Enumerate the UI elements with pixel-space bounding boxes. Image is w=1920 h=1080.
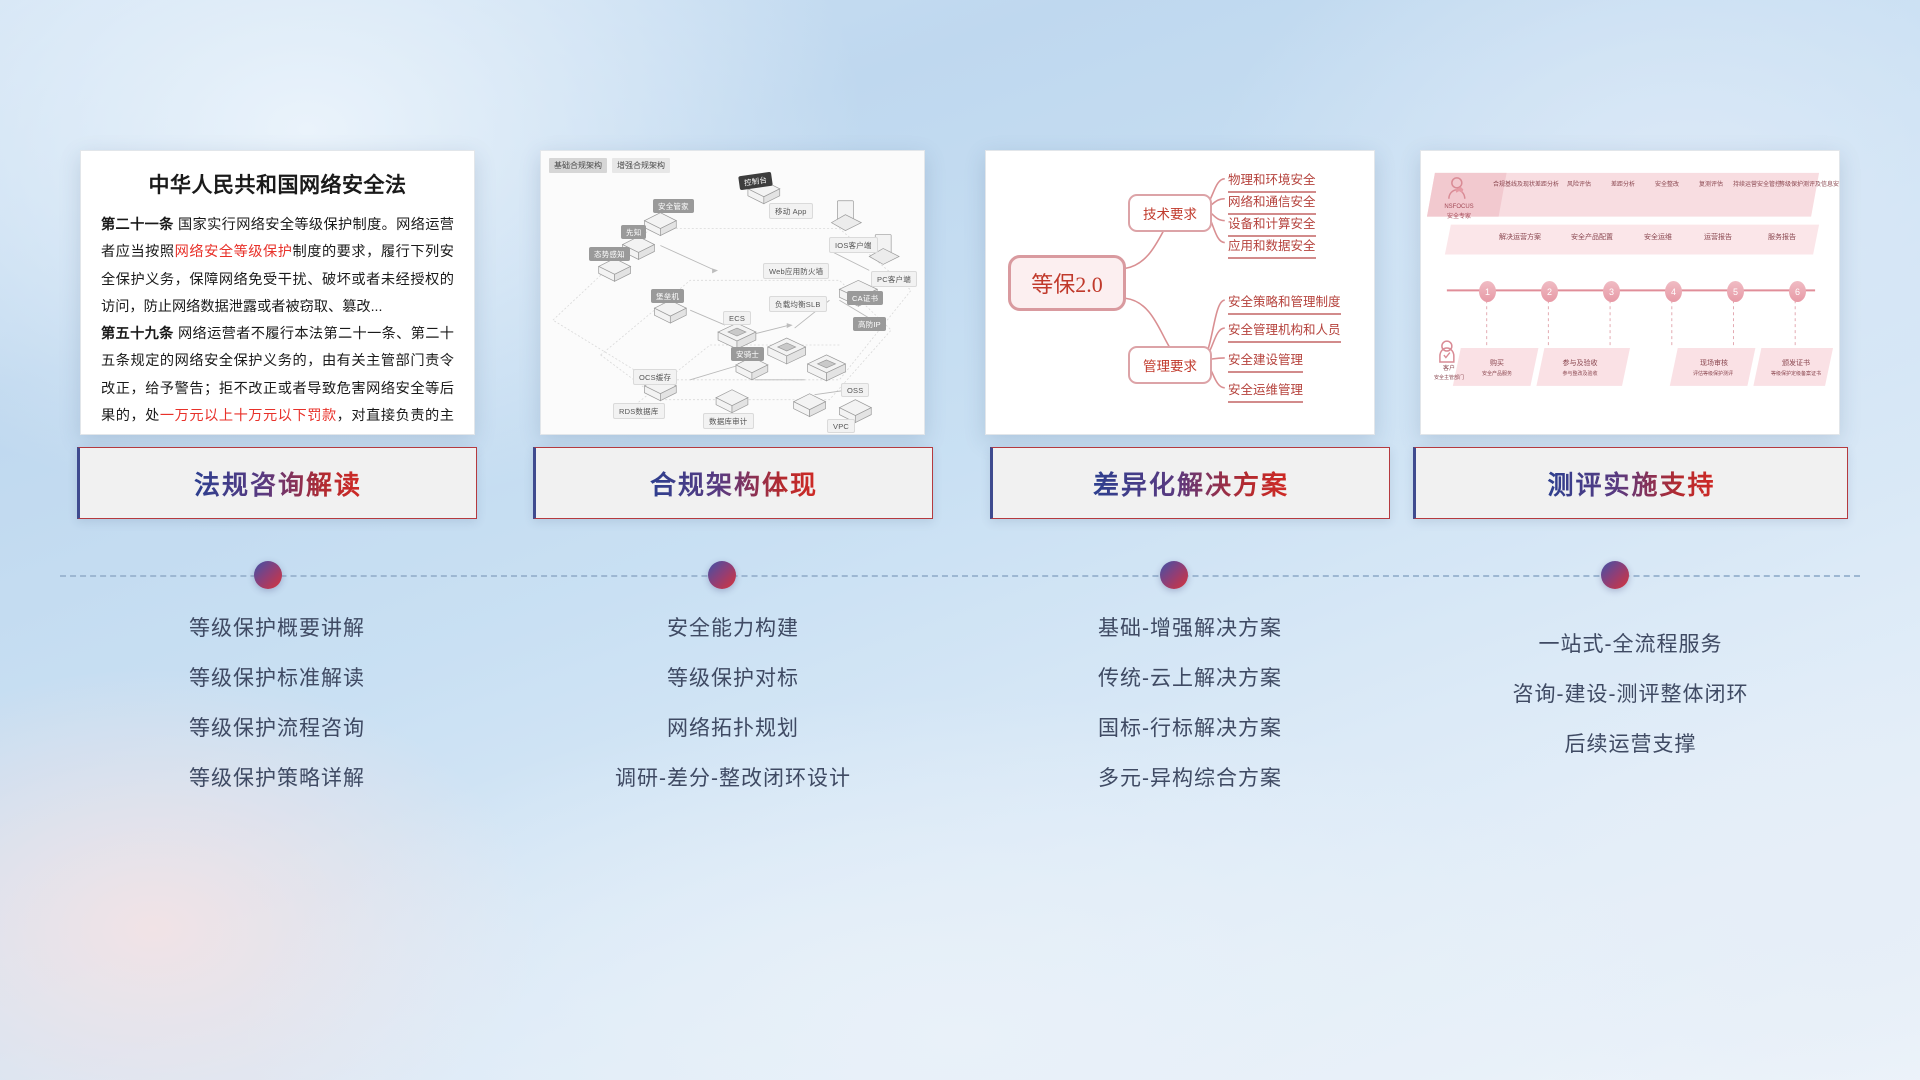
article-59-label: 第五十九条 xyxy=(101,326,174,342)
article-21-highlight: 网络安全等级保护 xyxy=(175,244,293,260)
heading-label-1: 合规架构体现 xyxy=(650,465,818,502)
law-title: 中华人民共和国网络安全法 xyxy=(101,169,454,199)
mind-leaf-network-comm: 网络和通信安全 xyxy=(1228,191,1316,215)
mind-branch-management: 管理要求 xyxy=(1128,346,1212,384)
law-body: 中华人民共和国网络安全法 第二十一条 国家实行网络安全等级保护制度。网络运营者应… xyxy=(81,151,474,435)
law-article-21: 第二十一条 国家实行网络安全等级保护制度。网络运营者应当按照网络安全等级保护制度… xyxy=(101,212,454,321)
mind-leaf-device-compute: 设备和计算安全 xyxy=(1228,213,1316,237)
timeline-dot-1 xyxy=(254,561,282,589)
list-item: 一站式-全流程服务 xyxy=(1413,620,1848,670)
nsfocus-mid-step-1: 解决运营方案 xyxy=(1489,233,1551,242)
nsfocus-brand: NSFOCUS xyxy=(1435,203,1483,211)
nsfocus-role-label: 客户 xyxy=(1429,365,1469,373)
heading-box-differentiated-solutions[interactable]: 差异化解决方案 xyxy=(990,447,1390,519)
card-law-text: 中华人民共和国网络安全法 第二十一条 国家实行网络安全等级保护制度。网络运营者应… xyxy=(80,150,475,435)
mind-leaf-policy-system: 安全策略和管理制度 xyxy=(1228,291,1341,315)
nsfocus-bottom-left-2-sub: 参与整改及验收 xyxy=(1545,371,1615,378)
list-item: 基础-增强解决方案 xyxy=(990,604,1390,654)
nsfocus-bottom-right-2-title: 颁发证书 xyxy=(1769,359,1823,368)
node-label-oss: OSS xyxy=(841,383,869,397)
law-article-59: 第五十九条 网络运营者不履行本法第二十一条、第二十五条规定的网络安全保护义务的，… xyxy=(101,321,454,435)
list-item: 国标-行标解决方案 xyxy=(990,704,1390,754)
timeline-dot-2 xyxy=(708,561,736,589)
nsfocus-bottom-right-1-sub: 评估等级保护测评 xyxy=(1673,371,1753,378)
node-label-ios-client: IOS客户端 xyxy=(829,237,878,253)
node-label-mobile-app: 移动 App xyxy=(769,203,813,219)
node-label-slb: 负载均衡SLB xyxy=(769,296,827,312)
card-mind-map: 等保2.0 技术要求 物理和环境安全 网络和通信安全 设备和计算安全 应用和数据… xyxy=(985,150,1375,435)
timeline-dashed-line xyxy=(60,575,1860,577)
list-item: 等级保护标准解读 xyxy=(77,654,477,704)
nsfocus-top-step-5: 复测评估 xyxy=(1691,181,1731,189)
node-label-xianzhi: 先知 xyxy=(621,225,646,239)
article-21-label: 第二十一条 xyxy=(101,217,174,233)
timeline-dot-4 xyxy=(1601,561,1629,589)
node-label-anqishi: 安骑士 xyxy=(731,347,764,361)
list-item: 等级保护流程咨询 xyxy=(77,704,477,754)
nsfocus-bottom-left-1-title: 购买 xyxy=(1473,359,1521,368)
mind-map-root: 等保2.0 xyxy=(1008,255,1126,311)
node-label-ecs: ECS xyxy=(723,311,751,325)
nsfocus-step-number-2: 2 xyxy=(1541,281,1558,302)
bullet-list-column-3: 基础-增强解决方案 传统-云上解决方案 国标-行标解决方案 多元-异构综合方案 xyxy=(990,604,1390,804)
nsfocus-bottom-right-1-title: 现场审核 xyxy=(1687,359,1741,368)
nsfocus-top-step-3: 差距分析 xyxy=(1603,181,1643,189)
list-item: 多元-异构综合方案 xyxy=(990,754,1390,804)
bullet-list-column-2: 安全能力构建 等级保护对标 网络拓扑规划 调研-差分-整改闭环设计 xyxy=(533,604,933,804)
heading-box-regulation-consulting[interactable]: 法规咨询解读 xyxy=(77,447,477,519)
nsfocus-mid-step-5: 服务报告 xyxy=(1757,233,1807,242)
nsfocus-flow: NSFOCUS 安全专家 合规基线及现状差距分析 风险评估 差距分析 安全整改 … xyxy=(1421,151,1839,434)
node-label-ca-cert: CA证书 xyxy=(847,291,883,305)
list-item: 等级保护策略详解 xyxy=(77,754,477,804)
list-item: 网络拓扑规划 xyxy=(533,704,933,754)
mind-leaf-construction-mgmt: 安全建设管理 xyxy=(1228,349,1303,373)
list-item: 等级保护对标 xyxy=(533,654,933,704)
architecture-diagram: 基础合规架构 增强合规架构 xyxy=(541,151,924,434)
heading-box-assessment-support[interactable]: 测评实施支持 xyxy=(1413,447,1848,519)
list-item: 等级保护概要讲解 xyxy=(77,604,477,654)
nsfocus-bottom-left-2-title: 参与及验收 xyxy=(1549,359,1611,368)
node-label-db-audit: 数据库审计 xyxy=(703,413,754,429)
nsfocus-step-number-5: 5 xyxy=(1727,281,1744,302)
nsfocus-bottom-right-2-sub: 等级保护定级备案证书 xyxy=(1755,371,1837,378)
article-59-fine-1: 一万元以上十万元以下罚款 xyxy=(160,408,337,424)
bullet-list-column-1: 等级保护概要讲解 等级保护标准解读 等级保护流程咨询 等级保护策略详解 xyxy=(77,604,477,804)
list-item: 后续运营支撑 xyxy=(1413,720,1848,770)
list-item: 咨询-建设-测评整体闭环 xyxy=(1413,670,1848,720)
nsfocus-top-step-7: 等级保护测评及信息安全建设咨询 xyxy=(1779,181,1837,189)
node-label-vpc: VPC xyxy=(827,419,855,433)
list-item: 调研-差分-整改闭环设计 xyxy=(533,754,933,804)
nsfocus-top-step-2: 风险评估 xyxy=(1559,181,1599,189)
node-label-situational-awareness: 态势感知 xyxy=(589,247,630,261)
heading-label-0: 法规咨询解读 xyxy=(194,465,362,502)
nsfocus-top-step-6: 持续运营安全管控 xyxy=(1731,181,1783,189)
heading-label-3: 测评实施支持 xyxy=(1547,465,1715,502)
nsfocus-step-number-6: 6 xyxy=(1789,281,1806,302)
nsfocus-top-step-1: 合规基线及现状差距分析 xyxy=(1493,181,1555,189)
node-label-anti-ddos: 高防IP xyxy=(853,317,886,331)
node-label-bastion-host: 堡垒机 xyxy=(651,289,684,303)
nsfocus-step-number-4: 4 xyxy=(1665,281,1682,302)
mind-leaf-org-personnel: 安全管理机构和人员 xyxy=(1228,319,1341,343)
mind-map: 等保2.0 技术要求 物理和环境安全 网络和通信安全 设备和计算安全 应用和数据… xyxy=(986,151,1374,434)
timeline-dot-3 xyxy=(1160,561,1188,589)
card-nsfocus-timeline: NSFOCUS 安全专家 合规基线及现状差距分析 风险评估 差距分析 安全整改 … xyxy=(1420,150,1840,435)
node-label-ocs-cache: OCS缓存 xyxy=(633,369,677,385)
node-label-pc-client: PC客户端 xyxy=(871,271,917,287)
nsfocus-mid-step-4: 运营报告 xyxy=(1693,233,1743,242)
mind-leaf-app-data: 应用和数据安全 xyxy=(1228,235,1316,259)
poster-stage: 中华人民共和国网络安全法 第二十一条 国家实行网络安全等级保护制度。网络运营者应… xyxy=(0,0,1920,1080)
nsfocus-brand-sub: 安全专家 xyxy=(1435,213,1483,221)
mind-leaf-operation-mgmt: 安全运维管理 xyxy=(1228,379,1303,403)
nsfocus-mid-step-2: 安全产品配置 xyxy=(1561,233,1623,242)
heading-label-2: 差异化解决方案 xyxy=(1093,465,1289,502)
bullet-list-column-4: 一站式-全流程服务 咨询-建设-测评整体闭环 后续运营支撑 xyxy=(1413,620,1848,770)
node-label-waf: Web应用防火墙 xyxy=(763,263,829,279)
node-label-security-butler: 安全管家 xyxy=(653,199,694,213)
nsfocus-step-number-3: 3 xyxy=(1603,281,1620,302)
nsfocus-step-number-1: 1 xyxy=(1479,281,1496,302)
nsfocus-role-sub: 安全主管部门 xyxy=(1425,375,1473,382)
mind-branch-technical: 技术要求 xyxy=(1128,194,1212,232)
card-cloud-architecture: 基础合规架构 增强合规架构 xyxy=(540,150,925,435)
nsfocus-top-step-4: 安全整改 xyxy=(1647,181,1687,189)
node-label-rds-database: RDS数据库 xyxy=(613,403,665,419)
list-item: 传统-云上解决方案 xyxy=(990,654,1390,704)
heading-box-compliance-architecture[interactable]: 合规架构体现 xyxy=(533,447,933,519)
mind-leaf-physical-env: 物理和环境安全 xyxy=(1228,169,1316,193)
nsfocus-bottom-left-1-sub: 安全产品服务 xyxy=(1467,371,1527,378)
nsfocus-mid-step-3: 安全运维 xyxy=(1633,233,1683,242)
list-item: 安全能力构建 xyxy=(533,604,933,654)
